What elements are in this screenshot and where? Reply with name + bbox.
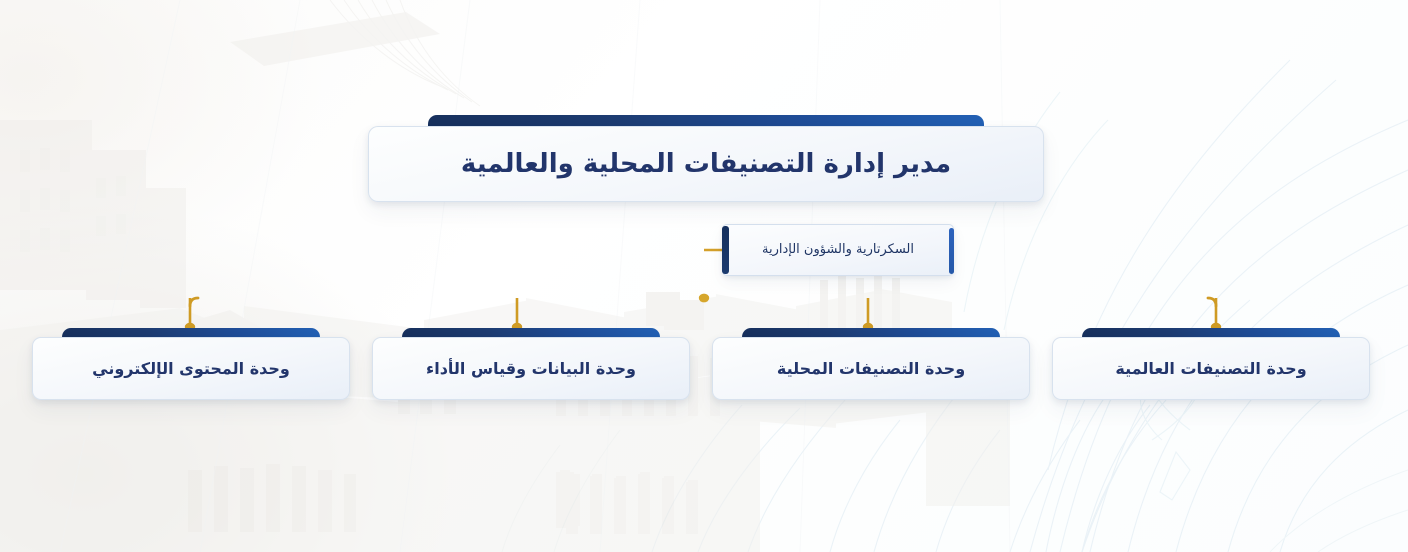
node-unit-local-rankings-label: وحدة التصنيفات المحلية (777, 359, 965, 379)
node-secretariat[interactable]: السكرتارية والشؤون الإدارية (722, 224, 954, 276)
node-unit-global-rankings[interactable]: وحدة التصنيفات العالمية (1052, 328, 1370, 400)
node-secretariat-card[interactable]: السكرتارية والشؤون الإدارية (722, 224, 954, 276)
org-chart-canvas: مدير إدارة التصنيفات المحلية والعالمية ا… (0, 0, 1408, 552)
node-secretariat-accent-bar-navy (722, 226, 729, 274)
connector-lines (0, 0, 1408, 552)
node-unit-data-performance-label: وحدة البيانات وقياس الأداء (426, 359, 636, 379)
node-secretariat-accent-bar-blue (949, 228, 954, 274)
node-unit-e-content-card[interactable]: وحدة المحتوى الإلكتروني (32, 337, 350, 400)
node-unit-e-content-label: وحدة المحتوى الإلكتروني (92, 359, 290, 379)
node-unit-data-performance-card[interactable]: وحدة البيانات وقياس الأداء (372, 337, 690, 400)
junction-dot-trunk (699, 294, 709, 303)
node-unit-global-rankings-label: وحدة التصنيفات العالمية (1115, 359, 1306, 379)
node-unit-e-content[interactable]: وحدة المحتوى الإلكتروني (32, 328, 350, 400)
node-director[interactable]: مدير إدارة التصنيفات المحلية والعالمية (368, 114, 1044, 202)
node-unit-local-rankings-card[interactable]: وحدة التصنيفات المحلية (712, 337, 1030, 400)
background-grid-watermark (0, 0, 1408, 552)
node-unit-data-performance[interactable]: وحدة البيانات وقياس الأداء (372, 328, 690, 400)
node-director-label: مدير إدارة التصنيفات المحلية والعالمية (461, 148, 951, 181)
node-director-card[interactable]: مدير إدارة التصنيفات المحلية والعالمية (368, 126, 1044, 202)
background-calligraphy-watermark (0, 0, 1408, 552)
node-unit-local-rankings[interactable]: وحدة التصنيفات المحلية (712, 328, 1030, 400)
node-unit-global-rankings-card[interactable]: وحدة التصنيفات العالمية (1052, 337, 1370, 400)
node-secretariat-label: السكرتارية والشؤون الإدارية (762, 242, 914, 258)
background-building-watermark (0, 0, 1408, 552)
connector-nodes (185, 246, 1221, 331)
